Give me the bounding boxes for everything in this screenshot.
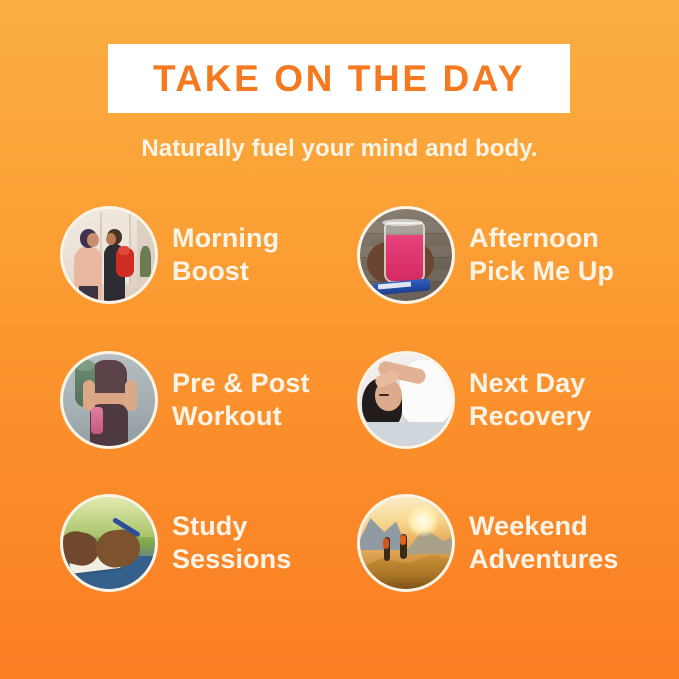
title-banner: TAKE ON THE DAY [108, 44, 570, 113]
use-case-item-next-day-recovery: Next Day Recovery [357, 351, 591, 449]
use-case-item-weekend-adventures: Weekend Adventures [357, 494, 619, 592]
use-case-label: Morning Boost [172, 222, 279, 288]
use-case-item-pre-and-post-workout: Pre & Post Workout [60, 351, 310, 449]
page-title: TAKE ON THE DAY [153, 60, 525, 97]
pink-drink-in-jar-photo [357, 206, 455, 304]
use-case-grid: Morning Boost Aftern [0, 206, 679, 626]
use-case-label: Afternoon Pick Me Up [469, 222, 614, 288]
use-case-label: Weekend Adventures [469, 510, 619, 576]
mother-and-child-with-backpack-photo [60, 206, 158, 304]
use-case-label: Next Day Recovery [469, 367, 591, 433]
hands-writing-notes-photo [60, 494, 158, 592]
use-case-item-afternoon-pick-me-up: Afternoon Pick Me Up [357, 206, 614, 304]
woman-resting-in-bed-photo [357, 351, 455, 449]
use-case-label: Study Sessions [172, 510, 291, 576]
hikers-at-sunrise-photo [357, 494, 455, 592]
promotional-infographic: TAKE ON THE DAY Naturally fuel your mind… [0, 0, 679, 679]
use-case-item-morning-boost: Morning Boost [60, 206, 279, 304]
woman-with-yoga-mat-photo [60, 351, 158, 449]
use-case-label: Pre & Post Workout [172, 367, 310, 433]
subtitle-text: Naturally fuel your mind and body. [0, 136, 679, 162]
use-case-item-study-sessions: Study Sessions [60, 494, 291, 592]
